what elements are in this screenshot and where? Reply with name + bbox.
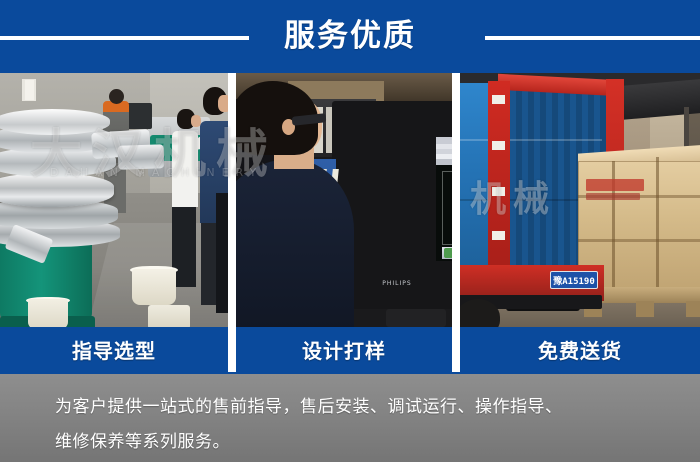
truck-body-line-upper xyxy=(460,139,602,141)
cad-titlebar xyxy=(436,137,452,144)
photo-factory-sieve xyxy=(0,73,228,327)
visitor-two-face xyxy=(218,95,228,112)
panel-delivery[interactable]: 豫A15190 免费送货 xyxy=(460,73,700,372)
bucket-three xyxy=(148,305,190,327)
reflector-strip-a xyxy=(492,95,505,104)
cad-drawing-area xyxy=(442,171,452,245)
crate-red-stencil-title xyxy=(586,179,644,191)
service-quality-banner: 服务优质 xyxy=(0,0,700,462)
panel-caption-guidance: 指导选型 xyxy=(0,327,228,372)
bucket-one xyxy=(28,299,68,327)
start-button-icon[interactable] xyxy=(444,248,452,258)
footer-description-block: 为客户提供一站式的售前指导，售后安装、调试运行、操作指导、 维修保养等系列服务。 xyxy=(0,372,700,462)
footer-line-one: 为客户提供一站式的售前指导，售后安装、调试运行、操作指导、 xyxy=(55,390,665,425)
photo-cad-design: PHILIPS xyxy=(236,73,452,327)
header-banner: 服务优质 xyxy=(0,0,700,73)
panel-divider-one xyxy=(228,73,236,372)
page-title: 服务优质 xyxy=(0,0,700,73)
panel-divider-two xyxy=(452,73,460,372)
photo-truck-delivery: 豫A15190 xyxy=(460,73,700,327)
footer-text: 为客户提供一站式的售前指导，售后安装、调试运行、操作指导、 维修保养等系列服务。 xyxy=(55,390,665,460)
footer-line-two: 维修保养等系列服务。 xyxy=(55,425,665,460)
cad-toolbar-lower xyxy=(436,159,452,165)
crate-batten-vertical-b xyxy=(656,157,659,291)
reflector-strip-c xyxy=(492,187,505,196)
visitor-three-silhouette xyxy=(216,193,228,313)
panel-design[interactable]: PHILIPS 设计打样 xyxy=(236,73,452,372)
bucket-two xyxy=(132,269,176,305)
monitor-stand xyxy=(386,309,446,327)
panel-strip: 指导选型 xyxy=(0,73,700,372)
worker-head xyxy=(109,89,124,104)
panel-caption-design: 设计打样 xyxy=(236,327,452,372)
monitor-screen xyxy=(436,137,452,261)
crate-batten-horizontal-b xyxy=(578,239,700,242)
reflector-strip-b xyxy=(492,141,505,150)
sieve-discharge-spout-b xyxy=(118,144,165,170)
reflector-strip-d xyxy=(492,231,505,240)
engineer-suit xyxy=(236,159,354,327)
dark-equipment-box xyxy=(126,103,152,129)
pallet-leg-b xyxy=(636,301,654,317)
panel-guidance[interactable]: 指导选型 xyxy=(0,73,228,372)
window-glass-icon xyxy=(25,80,34,100)
license-plate: 豫A15190 xyxy=(550,271,598,289)
panel-caption-delivery: 免费送货 xyxy=(460,327,700,372)
sieve-drum-upper xyxy=(0,173,114,207)
truck-door-left-red xyxy=(488,81,510,273)
sieve-lid-top xyxy=(0,109,110,135)
crate-red-stencil-subtitle xyxy=(586,193,640,200)
pallet-leg-c xyxy=(686,301,700,317)
